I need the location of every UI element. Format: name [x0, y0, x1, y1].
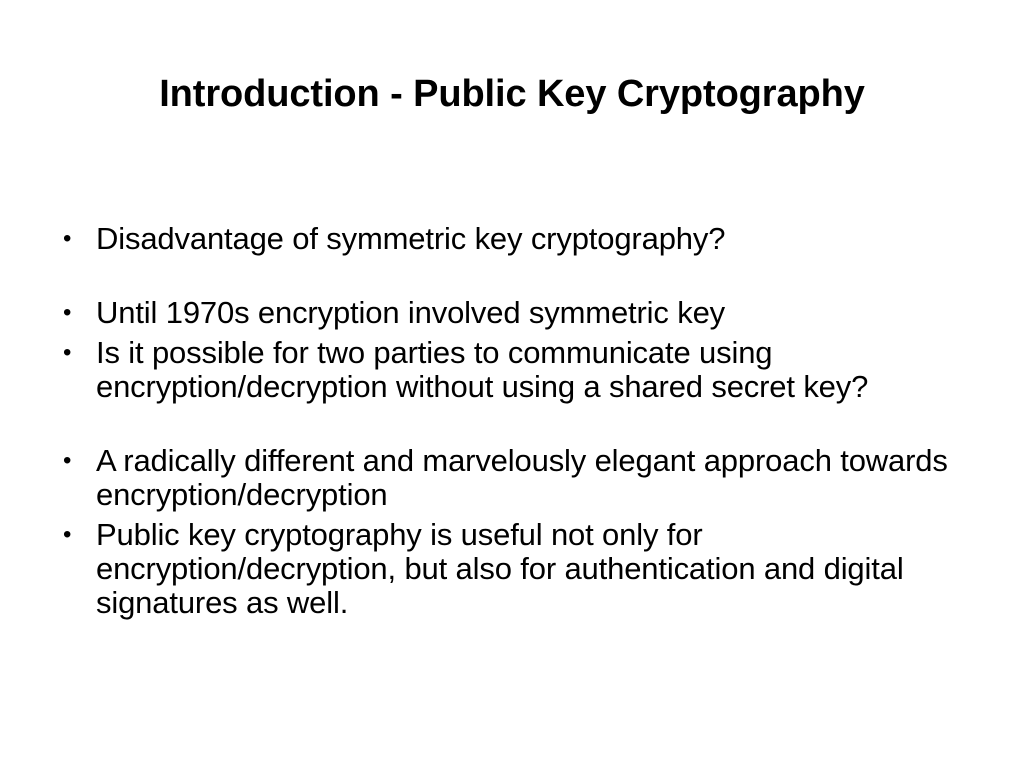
paragraph-spacer [58, 404, 978, 444]
list-item-label: Public key cryptography is useful not on… [96, 518, 978, 620]
slide: Introduction - Public Key Cryptography •… [0, 0, 1024, 768]
bullet-point-icon: • [58, 222, 96, 256]
list-item-label: Disadvantage of symmetric key cryptograp… [96, 222, 978, 256]
list-item-label: A radically different and marvelously el… [96, 444, 978, 512]
list-item-label: Until 1970s encryption involved symmetri… [96, 296, 978, 330]
list-item: • Until 1970s encryption involved symmet… [58, 296, 978, 330]
page-title: Introduction - Public Key Cryptography [0, 72, 1024, 116]
bullet-list: • Disadvantage of symmetric key cryptogr… [58, 222, 978, 620]
list-item: • Is it possible for two parties to comm… [58, 336, 978, 404]
paragraph-spacer [58, 256, 978, 296]
bullet-point-icon: • [58, 296, 96, 330]
bullet-point-icon: • [58, 336, 96, 370]
list-item: • Public key cryptography is useful not … [58, 518, 978, 620]
list-item-label: Is it possible for two parties to commun… [96, 336, 978, 404]
bullet-point-icon: • [58, 444, 96, 478]
list-item: • A radically different and marvelously … [58, 444, 978, 512]
bullet-point-icon: • [58, 518, 96, 552]
list-item: • Disadvantage of symmetric key cryptogr… [58, 222, 978, 256]
